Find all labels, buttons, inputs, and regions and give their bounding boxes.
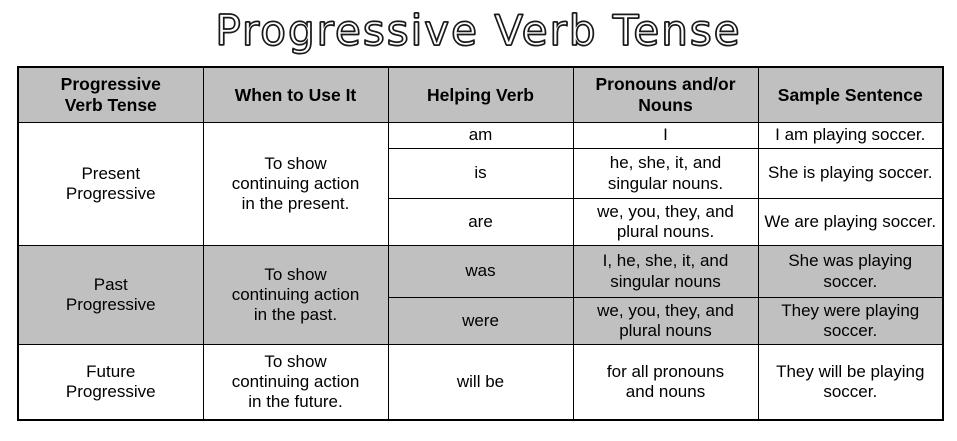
- cell-when-future: To show continuing action in the future.: [203, 345, 388, 420]
- when-past-line2: continuing action: [232, 285, 360, 304]
- progressive-verb-tense-table-container: Progressive Verb Tense When to Use It He…: [17, 66, 944, 421]
- cell-sample-sentence: I am playing soccer.: [758, 123, 943, 149]
- column-header-helping-verb: Helping Verb: [388, 67, 573, 123]
- cell-when-past: To show continuing action in the past.: [203, 246, 388, 345]
- table-header: Progressive Verb Tense When to Use It He…: [18, 67, 943, 123]
- table-header-row: Progressive Verb Tense When to Use It He…: [18, 67, 943, 123]
- column-header-when: When to Use It: [203, 67, 388, 123]
- pronouns-line2: plural nouns.: [617, 222, 714, 241]
- cell-pronouns: he, she, it, and singular nouns.: [573, 149, 758, 199]
- when-present-line1: To show: [264, 154, 326, 173]
- column-header-pronouns-line1: Pronouns and/or: [596, 74, 736, 94]
- pronouns-line2: plural nouns: [619, 321, 712, 340]
- pronouns-line2: and nouns: [626, 382, 705, 401]
- cell-sample-sentence: She is playing soccer.: [758, 149, 943, 199]
- cell-pronouns: I: [573, 123, 758, 149]
- column-header-tense: Progressive Verb Tense: [18, 67, 203, 123]
- column-header-tense-line1: Progressive: [61, 74, 161, 94]
- cell-tense-future: Future Progressive: [18, 345, 203, 420]
- cell-sample-sentence: We are playing soccer.: [758, 199, 943, 246]
- cell-helping-verb: is: [388, 149, 573, 199]
- when-past-line3: in the past.: [254, 305, 337, 324]
- when-past-line1: To show: [264, 265, 326, 284]
- table-row: Past Progressive To show continuing acti…: [18, 246, 943, 298]
- cell-tense-past: Past Progressive: [18, 246, 203, 345]
- column-header-pronouns-line2: Nouns: [638, 95, 692, 115]
- page-root: Progressive Verb Tense Progressive Verb …: [0, 0, 957, 441]
- cell-helping-verb: was: [388, 246, 573, 298]
- cell-helping-verb: will be: [388, 345, 573, 420]
- page-title-container: Progressive Verb Tense: [0, 0, 957, 62]
- table-row: Future Progressive To show continuing ac…: [18, 345, 943, 420]
- page-title: Progressive Verb Tense: [215, 10, 741, 52]
- tense-future-line2: Progressive: [66, 382, 156, 401]
- table-row: Present Progressive To show continuing a…: [18, 123, 943, 149]
- tense-past-line1: Past: [94, 275, 128, 294]
- progressive-verb-tense-table: Progressive Verb Tense When to Use It He…: [17, 66, 944, 421]
- when-present-line3: in the present.: [242, 194, 350, 213]
- when-future-line3: in the future.: [248, 392, 343, 411]
- pronouns-line2: singular nouns: [610, 272, 721, 291]
- tense-present-line2: Progressive: [66, 184, 156, 203]
- cell-tense-present: Present Progressive: [18, 123, 203, 246]
- tense-present-line1: Present: [81, 164, 140, 183]
- cell-pronouns: we, you, they, and plural nouns: [573, 298, 758, 345]
- pronouns-line1: we, you, they, and: [597, 202, 734, 221]
- when-present-line2: continuing action: [232, 174, 360, 193]
- cell-when-present: To show continuing action in the present…: [203, 123, 388, 246]
- pronouns-line1: I: [663, 125, 668, 144]
- when-future-line2: continuing action: [232, 372, 360, 391]
- cell-pronouns: for all pronouns and nouns: [573, 345, 758, 420]
- tense-past-line2: Progressive: [66, 295, 156, 314]
- cell-helping-verb: are: [388, 199, 573, 246]
- column-header-tense-line2: Verb Tense: [65, 95, 157, 115]
- pronouns-line1: I, he, she, it, and: [603, 251, 729, 270]
- pronouns-line1: for all pronouns: [607, 362, 724, 381]
- pronouns-line1: we, you, they, and: [597, 301, 734, 320]
- column-header-pronouns: Pronouns and/or Nouns: [573, 67, 758, 123]
- cell-pronouns: I, he, she, it, and singular nouns: [573, 246, 758, 298]
- table-body: Present Progressive To show continuing a…: [18, 123, 943, 420]
- cell-sample-sentence: They will be playing soccer.: [758, 345, 943, 420]
- cell-sample-sentence: She was playing soccer.: [758, 246, 943, 298]
- when-future-line1: To show: [264, 352, 326, 371]
- pronouns-line1: he, she, it, and: [610, 153, 722, 172]
- cell-sample-sentence: They were playing soccer.: [758, 298, 943, 345]
- cell-helping-verb: am: [388, 123, 573, 149]
- column-header-sample-sentence: Sample Sentence: [758, 67, 943, 123]
- cell-pronouns: we, you, they, and plural nouns.: [573, 199, 758, 246]
- tense-future-line1: Future: [86, 362, 135, 381]
- pronouns-line2: singular nouns.: [608, 174, 723, 193]
- cell-helping-verb: were: [388, 298, 573, 345]
